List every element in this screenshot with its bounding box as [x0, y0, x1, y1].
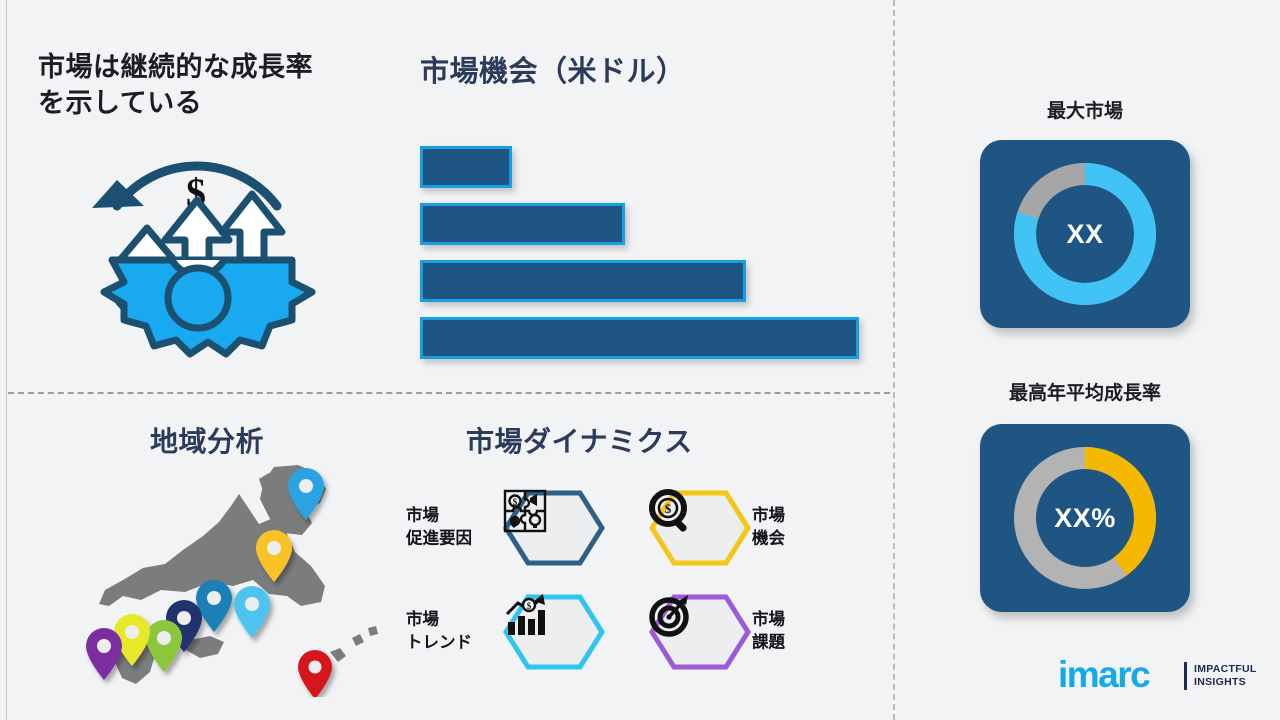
hexagon-opportunities: $: [648, 488, 752, 568]
highest-cagr-donut: XX%: [1005, 438, 1165, 598]
largest-market-card: XX: [980, 140, 1190, 328]
hexagon-challenges: [648, 592, 752, 672]
vertical-dashed-divider: [893, 0, 895, 720]
japan-map: [62, 462, 382, 697]
growth-bar-chart-icon: $: [502, 592, 606, 672]
puzzle-pieces-icon: $: [502, 488, 606, 568]
opportunity-bar-chart: [420, 146, 880, 358]
imarc-wordmark: imarc: [1058, 656, 1149, 693]
bar-4: [420, 317, 859, 359]
highest-cagr-heading: 最高年平均成長率: [945, 378, 1225, 405]
svg-text:$: $: [527, 601, 532, 611]
pin-chubu: [196, 580, 232, 632]
bar-2: [420, 203, 625, 245]
pin-kanto: [234, 586, 270, 638]
hexagon-drivers: $: [502, 488, 606, 568]
highest-cagr-card: XX%: [980, 424, 1190, 612]
hexagon-trends: $: [502, 592, 606, 672]
left-frame-rule: [6, 0, 7, 720]
regional-section-title: 地域分析: [150, 420, 410, 460]
dynamics-item-opportunities[interactable]: $ 市場 機会: [648, 488, 848, 568]
highest-cagr-value: XX%: [1005, 438, 1165, 598]
horizontal-dashed-divider: [8, 392, 890, 394]
dynamics-item-challenges-label: 市場 課題: [752, 609, 848, 656]
dynamics-item-opportunities-label: 市場 機会: [752, 505, 848, 552]
svg-text:$: $: [513, 497, 518, 507]
target-arrow-icon: [648, 592, 752, 672]
opportunity-section-title: 市場機会（米ドル）: [420, 48, 860, 90]
slide-canvas: 市場は継続的な成長率 を示している $ 市場機会（米ドル）: [0, 0, 1280, 720]
dynamics-item-drivers[interactable]: 市場 促進要因 $: [406, 488, 606, 568]
imarc-logo: imarc IMPACTFUL INSIGHTS: [1058, 658, 1248, 700]
pin-kyushu: [86, 628, 122, 680]
largest-market-heading: 最大市場: [945, 96, 1225, 123]
bar-3: [420, 260, 746, 302]
dynamics-item-trends[interactable]: 市場 トレンド $: [406, 592, 606, 672]
largest-market-donut: XX: [1005, 154, 1165, 314]
dynamics-item-trends-label: 市場 トレンド: [406, 609, 502, 656]
dynamics-section-title: 市場ダイナミクス: [466, 420, 826, 460]
bar-1: [420, 146, 512, 188]
pin-okinawa: [298, 650, 332, 697]
svg-text:$: $: [665, 501, 672, 516]
dynamics-item-challenges[interactable]: 市場 課題: [648, 592, 848, 672]
dynamics-item-drivers-label: 市場 促進要因: [406, 505, 502, 552]
logo-divider-bar: [1184, 662, 1187, 690]
largest-market-value: XX: [1005, 154, 1165, 314]
growth-cycle-gear-icon: $: [72, 128, 322, 368]
magnifier-dollar-icon: $: [648, 488, 752, 568]
imarc-tagline: IMPACTFUL INSIGHTS: [1194, 663, 1257, 690]
growth-section-title: 市場は継続的な成長率 を示している: [38, 50, 398, 121]
